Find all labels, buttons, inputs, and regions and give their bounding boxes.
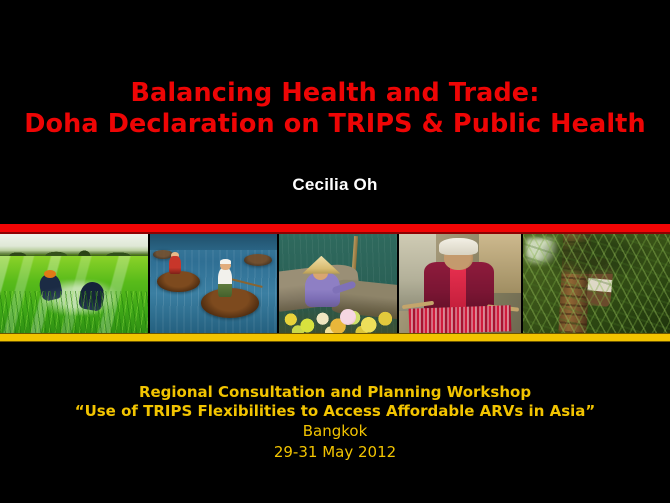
photo-palm-climber — [523, 234, 670, 333]
photo-weaver — [399, 234, 523, 333]
title-line-2: Doha Declaration on TRIPS & Public Healt… — [0, 109, 670, 140]
slide-title: Balancing Health and Trade: Doha Declara… — [0, 78, 670, 140]
boatman-figure — [218, 268, 232, 298]
title-line-1: Balancing Health and Trade: — [0, 78, 670, 109]
photo-rice-paddy — [0, 234, 150, 333]
banner-bottom-rule — [0, 333, 670, 342]
fruit-pile — [279, 299, 398, 333]
footer-location: Bangkok — [0, 421, 670, 442]
boatman-cap — [220, 259, 231, 264]
palm-fronds — [523, 234, 670, 333]
fruit-item — [340, 309, 355, 325]
far-shore — [150, 234, 276, 250]
boatman-figure — [169, 256, 180, 274]
slide-footer: Regional Consultation and Planning Works… — [0, 383, 670, 463]
photo-coracle-boats — [150, 234, 278, 333]
treeline — [0, 247, 148, 256]
weaver-scarf — [450, 264, 466, 310]
photo-floating-market — [279, 234, 400, 333]
head-wrap — [439, 238, 478, 255]
coracle-boat — [157, 271, 200, 293]
footer-event-subtitle: “Use of TRIPS Flexibilities to Access Af… — [0, 402, 670, 421]
farmer-hat — [44, 270, 56, 278]
footer-date: 29-31 May 2012 — [0, 442, 670, 463]
coracle-boat — [244, 254, 272, 266]
woven-textile — [409, 305, 512, 333]
rice-seedlings — [0, 291, 148, 333]
photo-strip — [0, 234, 670, 333]
banner-top-rule — [0, 224, 670, 234]
footer-event-title: Regional Consultation and Planning Works… — [0, 383, 670, 402]
author-name: Cecilia Oh — [0, 175, 670, 195]
presentation-title-slide: Balancing Health and Trade: Doha Declara… — [0, 0, 670, 503]
